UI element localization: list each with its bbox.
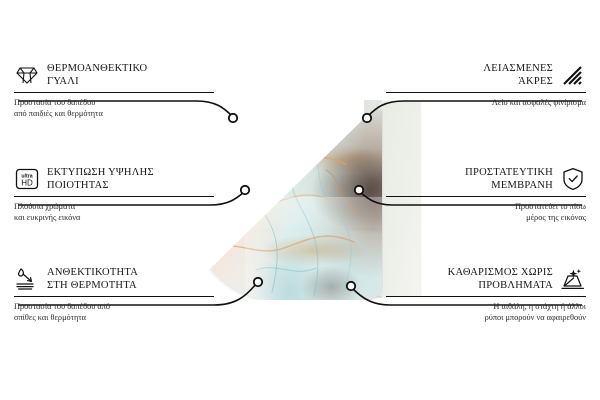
feature-sub-line2: σπίθες και θερμότητα [14, 312, 214, 323]
feature-title-line2: ΣΤΗ ΘΕΡΜΟΤΗΤΑ [47, 279, 214, 292]
feature-sub-line1: Πλούσια χρώματα [14, 201, 214, 212]
feature-title-line1: ΕΚΤΥΠΩΣΗ ΥΨΗΛΗΣ [47, 166, 214, 179]
feature-title-line1: ΛΕΙΑΣΜΕΝΕΣ [386, 62, 553, 75]
feature-sub-line1: Η αιθάλη, η στάχτη ή άλλοι [386, 301, 586, 312]
connector-node [254, 278, 262, 286]
feature-title-line2: ΠΟΙΟΤΗΤΑΣ [47, 179, 214, 192]
connector-node [347, 282, 355, 290]
feature-sub-line2: από παιδιές και θερμότητα [14, 108, 214, 119]
feature-title-line1: ΠΡΟΣΤΑΤΕΥΤΙΚΗ [386, 166, 553, 179]
infographic-canvas: ΘΕΡΜΟΑΝΘΕΚΤΙΚΟ ΓΥΑΛΙ Προστασία του δαπέδ… [0, 0, 600, 400]
diagonal-stripes-icon [560, 63, 586, 87]
feature-title-line2: ΜΕΜΒΡΑΝΗ [386, 179, 553, 192]
feature-title-line1: ΚΑΘΑΡΙΣΜΟΣ ΧΩΡΙΣ [386, 266, 553, 279]
ultra-hd-icon: ultra HD [14, 167, 40, 191]
feature-polished-edges: ΛΕΙΑΣΜΕΝΕΣ ΆΚΡΕΣ Λείο και ασφαλές φινίρι… [386, 62, 586, 108]
feature-divider [386, 296, 586, 297]
feature-trouble-free-cleaning: ΚΑΘΑΡΙΣΜΟΣ ΧΩΡΙΣ ΠΡΟΒΛΗΜΑΤΑ Η αιθάλη, η … [386, 266, 586, 323]
feature-divider [14, 92, 214, 93]
feature-sub-line1: Λείο και ασφαλές φινίρισμα [386, 97, 586, 108]
feature-sub-line1: Προστασία του δαπέδου [14, 97, 214, 108]
feature-high-quality-print: ultra HD ΕΚΤΥΠΩΣΗ ΥΨΗΛΗΣ ΠΟΙΟΤΗΤΑΣ Πλούσ… [14, 166, 214, 223]
connector-node [363, 114, 371, 122]
feature-title-line1: ΑΝΘΕΚΤΙΚΟΤΗΤΑ [47, 266, 214, 279]
connector-node [241, 186, 249, 194]
connector-node [355, 186, 363, 194]
feature-title-line2: ΓΥΑΛΙ [47, 75, 214, 88]
feature-divider [386, 196, 586, 197]
feature-title-line1: ΘΕΡΜΟΑΝΘΕΚΤΙΚΟ [47, 62, 214, 75]
feature-heat-durability: ΑΝΘΕΚΤΙΚΟΤΗΤΑ ΣΤΗ ΘΕΡΜΟΤΗΤΑ Προστασία το… [14, 266, 214, 323]
feature-sub-line2: μέρος της εικόνας [386, 212, 586, 223]
feature-sub-line2: ρύποι μπορούν να αφαιρεθούν [386, 312, 586, 323]
feature-title-line2: ΠΡΟΒΛΗΜΑΤΑ [386, 279, 553, 292]
feature-sub-line2: και ευκρινής εικόνα [14, 212, 214, 223]
connector-node [229, 114, 237, 122]
flame-arrow-icon [14, 267, 40, 291]
feature-sub-line1: Προστατεύει το πίσω [386, 201, 586, 212]
diamond-icon [14, 63, 40, 87]
feature-heat-resistant-glass: ΘΕΡΜΟΑΝΘΕΚΤΙΚΟ ΓΥΑΛΙ Προστασία του δαπέδ… [14, 62, 214, 119]
feature-divider [14, 296, 214, 297]
feature-divider [14, 196, 214, 197]
shield-check-icon [560, 167, 586, 191]
svg-text:HD: HD [21, 178, 33, 187]
sparkle-wipe-icon [560, 267, 586, 291]
feature-protective-membrane: ΠΡΟΣΤΑΤΕΥΤΙΚΗ ΜΕΜΒΡΑΝΗ Προστατεύει το πί… [386, 166, 586, 223]
feature-sub-line1: Προστασία του δαπέδου από [14, 301, 214, 312]
feature-title-line2: ΆΚΡΕΣ [386, 75, 553, 88]
feature-divider [386, 92, 586, 93]
